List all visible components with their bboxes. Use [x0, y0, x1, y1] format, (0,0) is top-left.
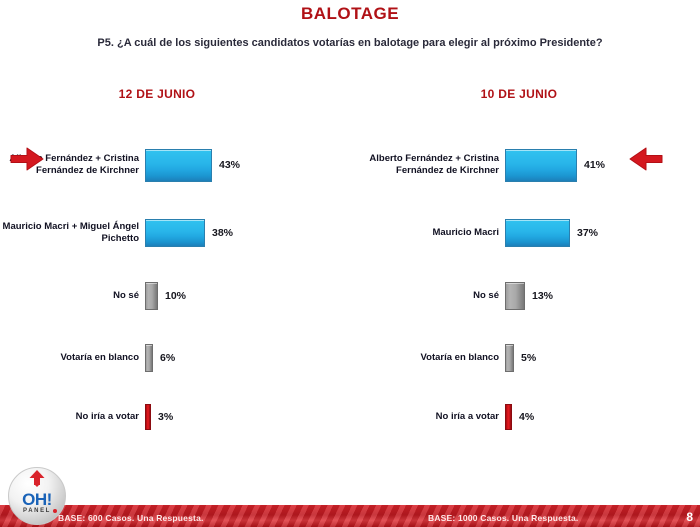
bar-label: No iría a votar — [350, 411, 505, 423]
bar-label: No iría a votar — [0, 411, 145, 423]
bar-value: 38% — [212, 227, 233, 239]
bar-label: No sé — [0, 290, 145, 302]
bar-label: Alberto Fernández + Cristina Fernández d… — [350, 153, 505, 176]
bar-label-text: No iría a votar — [436, 411, 499, 422]
bar-fill — [505, 149, 577, 182]
bar-row: No sé 10% — [0, 276, 350, 316]
bar-container: 37% — [505, 210, 598, 256]
bar-fill — [145, 149, 212, 182]
bar-value: 10% — [165, 290, 186, 302]
oh-panel-logo: OH! PANEL — [8, 467, 66, 525]
question-text: P5. ¿A cuál de los siguientes candidatos… — [0, 37, 700, 49]
bar-label-text: Mauricio Macri + Miguel Ángel Pichetto — [3, 221, 139, 244]
bar-value: 43% — [219, 159, 240, 171]
bar-container: 10% — [145, 276, 186, 316]
bar-label: Votaría en blanco — [350, 352, 505, 364]
bar-value: 37% — [577, 227, 598, 239]
bar-row: Mauricio Macri 37% — [350, 210, 700, 256]
bar-label: Mauricio Macri + Miguel Ángel Pichetto — [0, 221, 145, 244]
bar-label-text: No iría a votar — [76, 411, 139, 422]
chart-title-right: 10 DE JUNIO — [344, 87, 694, 101]
logo-panel-text: PANEL — [8, 508, 66, 514]
bar-container: 4% — [505, 400, 534, 434]
bar-label: Mauricio Macri — [350, 227, 505, 239]
bar-container: 43% — [145, 134, 240, 196]
bar-container: 38% — [145, 210, 233, 256]
chart-panel-left: 12 DE JUNIO Alberto Fernández + Cristina… — [0, 78, 350, 458]
bar-fill — [145, 219, 205, 247]
bar-container: 13% — [505, 276, 553, 316]
chart-title-left: 12 DE JUNIO — [0, 87, 332, 101]
bar-fill — [505, 404, 512, 430]
chart-panel-right: 10 DE JUNIO Alberto Fernández + Cristina… — [350, 78, 700, 458]
bar-fill — [145, 344, 153, 372]
logo-oh-text: OH! — [8, 491, 66, 508]
bar-container: 3% — [145, 400, 173, 434]
bar-value: 6% — [160, 352, 175, 364]
bar-row: No sé 13% — [350, 276, 700, 316]
bar-fill — [145, 404, 151, 430]
bar-fill — [505, 282, 525, 310]
bar-value: 41% — [584, 159, 605, 171]
bar-row: Alberto Fernández + Cristina Fernández d… — [0, 134, 350, 196]
bar-label: Votaría en blanco — [0, 352, 145, 364]
bar-container: 6% — [145, 338, 175, 378]
right-pointing-arrow-icon — [10, 146, 44, 172]
bar-row: Votaría en blanco 5% — [350, 338, 700, 378]
page-title: BALOTAGE — [0, 4, 700, 24]
bar-label-text: Votaría en blanco — [421, 352, 499, 363]
bar-value: 3% — [158, 411, 173, 423]
bar-label-text: Votaría en blanco — [61, 352, 139, 363]
bar-fill — [505, 219, 570, 247]
logo-dot — [53, 509, 57, 513]
footer-base-left: BASE: 600 Casos. Una Respuesta. — [58, 513, 204, 523]
bar-value: 5% — [521, 352, 536, 364]
bar-row: Mauricio Macri + Miguel Ángel Pichetto 3… — [0, 210, 350, 256]
bar-label-text: Mauricio Macri — [432, 227, 499, 238]
bar-label-text: No sé — [113, 290, 139, 301]
footer-base-right: BASE: 1000 Casos. Una Respuesta. — [428, 513, 579, 523]
left-pointing-arrow-icon — [629, 146, 663, 172]
bar-value: 4% — [519, 411, 534, 423]
bar-container: 5% — [505, 338, 536, 378]
bar-fill — [505, 344, 514, 372]
bar-row: Votaría en blanco 6% — [0, 338, 350, 378]
page-number: 8 — [686, 510, 693, 524]
up-arrow-icon — [29, 470, 45, 487]
bar-row: No iría a votar 3% — [0, 400, 350, 434]
bar-label: No sé — [350, 290, 505, 302]
bar-label-text: Alberto Fernández + Cristina Fernández d… — [369, 153, 499, 176]
bar-value: 13% — [532, 290, 553, 302]
bar-label-text: No sé — [473, 290, 499, 301]
bar-row: No iría a votar 4% — [350, 400, 700, 434]
bar-container: 41% — [505, 134, 605, 196]
bar-fill — [145, 282, 158, 310]
